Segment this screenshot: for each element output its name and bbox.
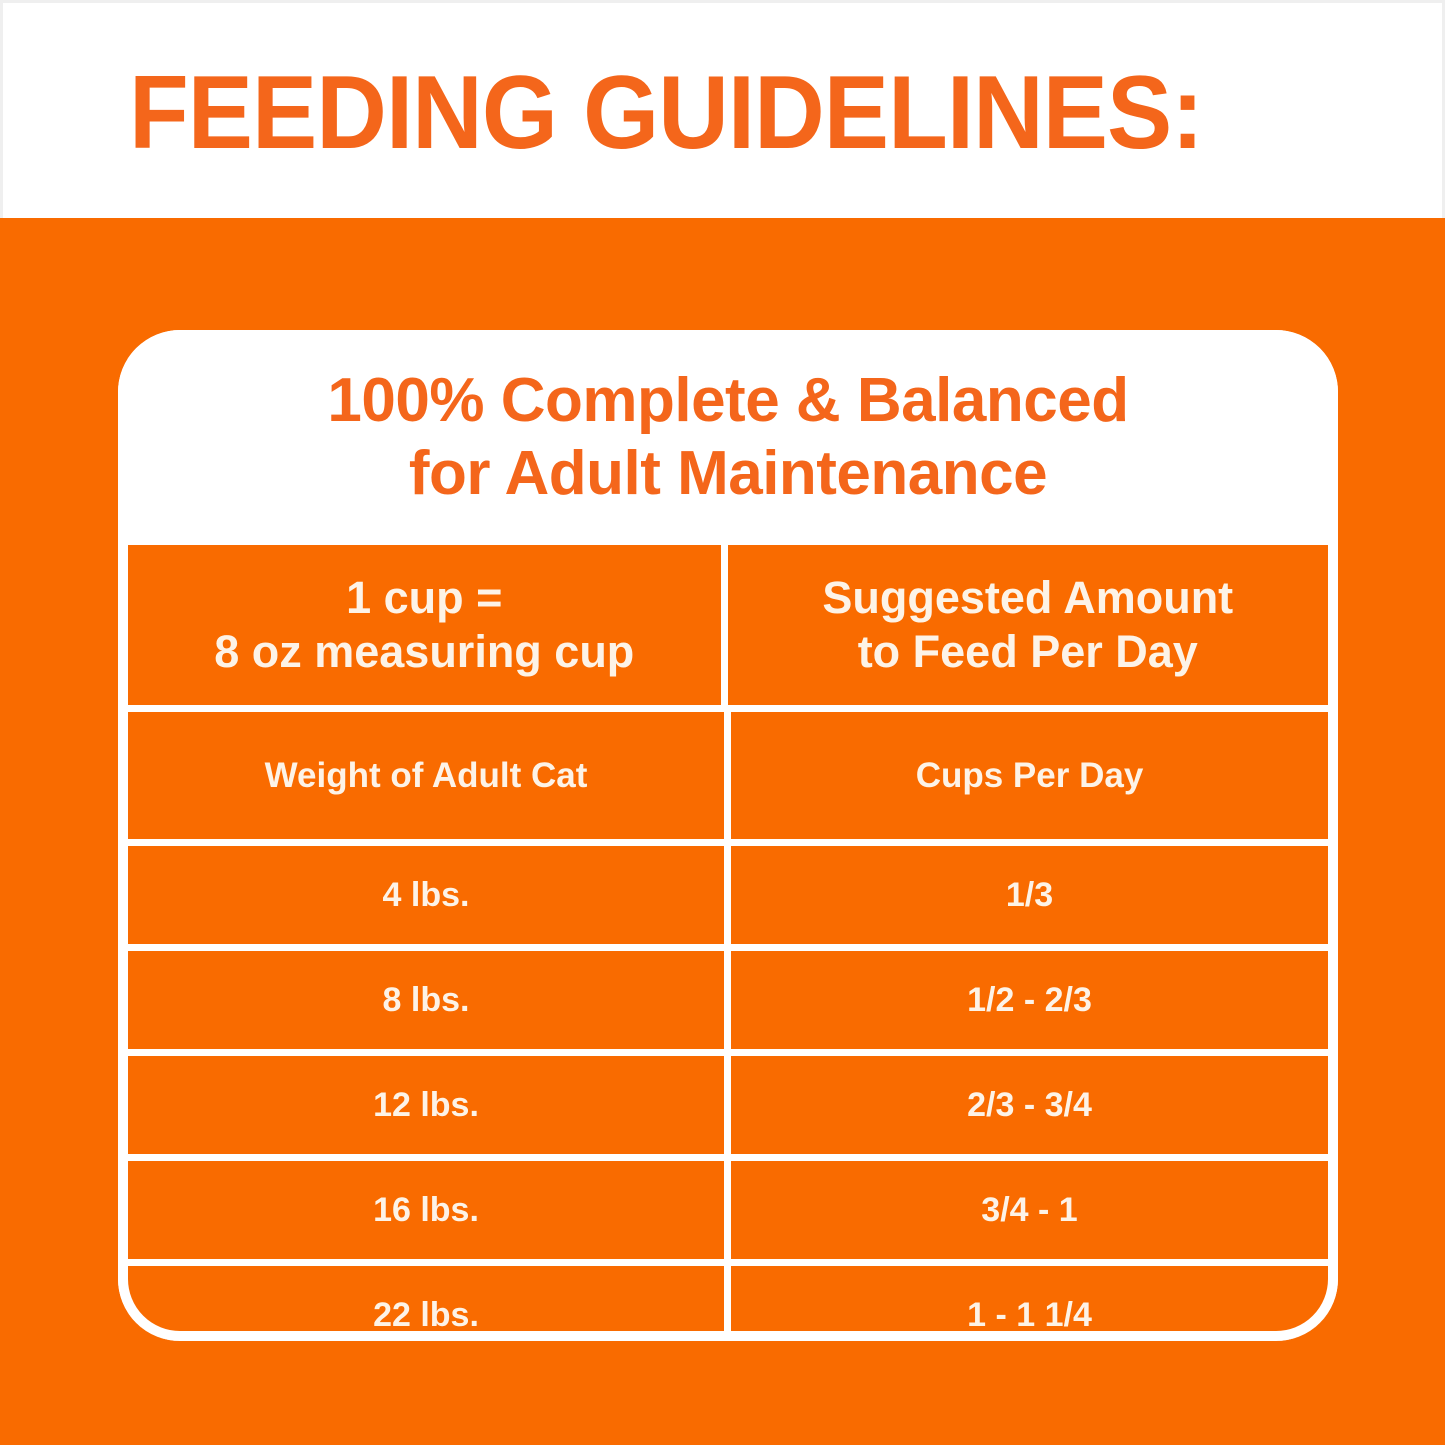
column-divider: [724, 712, 731, 839]
column-divider: [721, 545, 728, 705]
cell-weight: 8 lbs.: [128, 951, 724, 1049]
card-heading-line-1: 100% Complete & Balanced: [327, 366, 1128, 435]
table-row: 22 lbs. 1 - 1 1/4: [128, 1266, 1328, 1341]
guidelines-card: 100% Complete & Balanced for Adult Maint…: [118, 330, 1338, 1341]
table-header-row: Weight of Adult Cat Cups Per Day: [128, 712, 1328, 839]
cell-cups: 1 - 1 1/4: [731, 1266, 1328, 1341]
column-divider: [724, 846, 731, 944]
page-title: FEEDING GUIDELINES:: [129, 61, 1203, 165]
cell-weight: 4 lbs.: [128, 846, 724, 944]
cell-measuring-cup: 1 cup = 8 oz measuring cup: [128, 545, 721, 705]
table-row: 12 lbs. 2/3 - 3/4: [128, 1056, 1328, 1154]
cell-suggested-amount: Suggested Amount to Feed Per Day: [728, 545, 1328, 705]
measuring-cup-line-2: 8 oz measuring cup: [214, 625, 634, 679]
column-divider: [724, 1266, 731, 1341]
table-row-banner: 1 cup = 8 oz measuring cup Suggested Amo…: [128, 545, 1328, 705]
suggested-amount-line-2: to Feed Per Day: [822, 625, 1233, 679]
cell-cups: 1/3: [731, 846, 1328, 944]
cell-weight: 22 lbs.: [128, 1266, 724, 1341]
banner: FEEDING GUIDELINES:: [0, 0, 1445, 218]
column-divider: [724, 1056, 731, 1154]
table-row: 4 lbs. 1/3: [128, 846, 1328, 944]
cell-cups: 3/4 - 1: [731, 1161, 1328, 1259]
measuring-cup-line-1: 1 cup =: [214, 571, 634, 625]
table-row: 8 lbs. 1/2 - 2/3: [128, 951, 1328, 1049]
suggested-amount-line-1: Suggested Amount: [822, 571, 1233, 625]
column-header-weight: Weight of Adult Cat: [128, 712, 724, 839]
table-row: 16 lbs. 3/4 - 1: [128, 1161, 1328, 1259]
feeding-table: 1 cup = 8 oz measuring cup Suggested Amo…: [128, 545, 1328, 1331]
cell-weight: 16 lbs.: [128, 1161, 724, 1259]
cell-cups: 1/2 - 2/3: [731, 951, 1328, 1049]
card-heading-line-2: for Adult Maintenance: [118, 437, 1338, 510]
column-divider: [724, 1161, 731, 1259]
feeding-guidelines-panel: FEEDING GUIDELINES: 100% Complete & Bala…: [0, 0, 1445, 1445]
column-divider: [724, 951, 731, 1049]
column-header-cups: Cups Per Day: [731, 712, 1328, 839]
cell-cups: 2/3 - 3/4: [731, 1056, 1328, 1154]
card-heading: 100% Complete & Balanced for Adult Maint…: [118, 364, 1338, 510]
cell-weight: 12 lbs.: [128, 1056, 724, 1154]
